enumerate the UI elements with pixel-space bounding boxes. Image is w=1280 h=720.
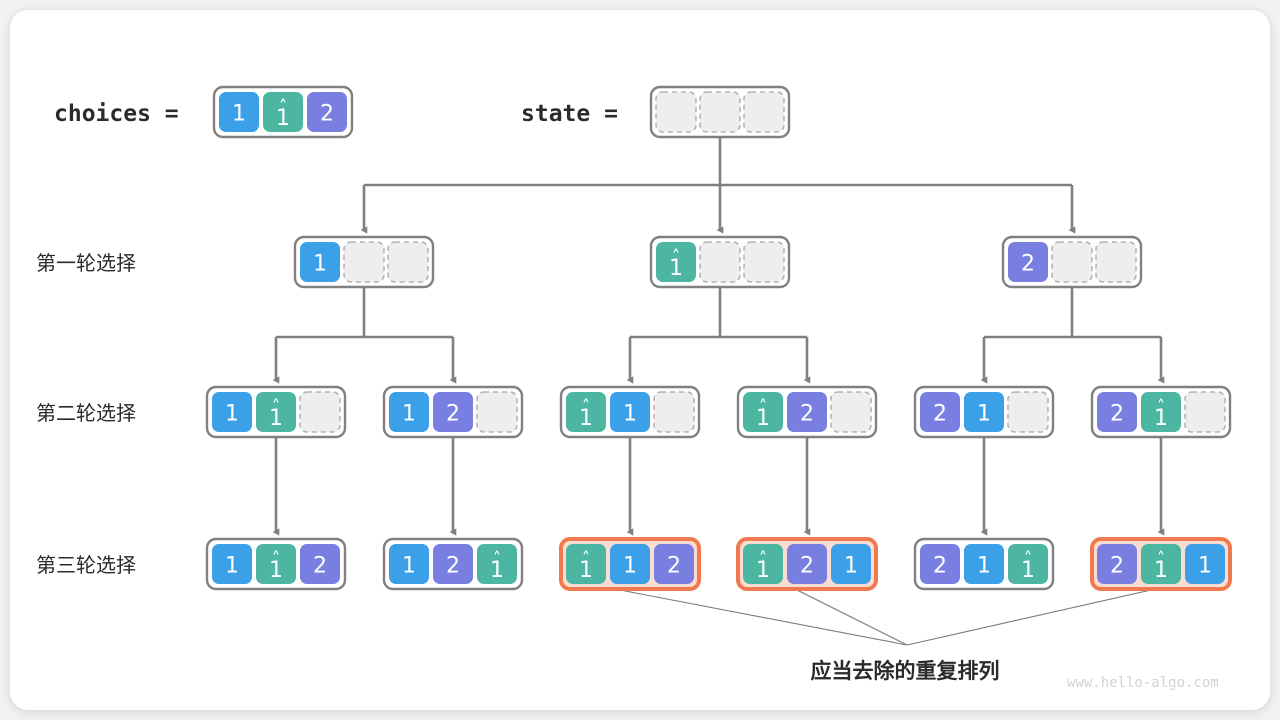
tree-node-r3-1[interactable]: 1˄12 [207, 539, 345, 589]
state-cell-empty [344, 242, 384, 282]
cell-value: 2 [800, 554, 814, 579]
state-cell-empty [1052, 242, 1092, 282]
cell-value: 2 [446, 402, 460, 427]
state-cell-empty [1008, 392, 1048, 432]
cell-value: 2 [313, 554, 327, 579]
cell-value: 2 [320, 102, 334, 127]
state-cell-empty [700, 92, 740, 132]
cell-value: 1 [269, 406, 283, 431]
state-cell-empty [477, 392, 517, 432]
cell-value: 1 [225, 402, 239, 427]
cell-value: 1 [756, 558, 770, 583]
choices-array[interactable]: 1˄12 [214, 87, 352, 137]
cell-value: 1 [1198, 554, 1212, 579]
cell-value: 2 [1110, 402, 1124, 427]
state-label: state = [521, 101, 618, 127]
cell-value: 1 [402, 402, 416, 427]
state-cell-empty [1096, 242, 1136, 282]
state-cell-empty [831, 392, 871, 432]
cell-value: 1 [579, 406, 593, 431]
callout-line [907, 590, 1151, 645]
cell-value: 2 [667, 554, 681, 579]
state-cell-empty [300, 392, 340, 432]
state-cell-empty [700, 242, 740, 282]
state-cell-empty [1185, 392, 1225, 432]
state-cell-empty [654, 392, 694, 432]
cell-value: 1 [490, 558, 504, 583]
cell-value: 1 [1154, 558, 1168, 583]
cell-value: 2 [933, 554, 947, 579]
cell-value: 2 [933, 402, 947, 427]
cell-value: 1 [313, 252, 327, 277]
cell-value: 2 [446, 554, 460, 579]
tree-node-r3-5[interactable]: 21˄1 [915, 539, 1053, 589]
cell-value: 1 [623, 554, 637, 579]
cell-value: 2 [800, 402, 814, 427]
row-label-round-1: 第一轮选择 [36, 251, 136, 275]
permutation-tree-svg: 1˄121˄121˄112˄11˄12212˄11˄1212˄1˄112˄121… [0, 0, 1280, 720]
cell-value: 1 [1154, 406, 1168, 431]
tree-node-r3-3[interactable]: ˄112 [561, 539, 699, 589]
cell-value: 1 [1021, 558, 1035, 583]
tree-node-r2-6[interactable]: 2˄1 [1092, 387, 1230, 437]
state-cell-empty [744, 92, 784, 132]
cell-value: 1 [756, 406, 770, 431]
cell-value: 1 [276, 106, 290, 131]
cell-value: 1 [225, 554, 239, 579]
row-label-round-3: 第三轮选择 [36, 553, 136, 577]
tree-node-r3-4[interactable]: ˄121 [738, 539, 876, 589]
cell-value: 1 [669, 256, 683, 281]
state-cell-empty [388, 242, 428, 282]
state-cell-empty [744, 242, 784, 282]
tree-node-r2-1[interactable]: 1˄1 [207, 387, 345, 437]
callout-line [797, 590, 907, 645]
tree-node-r1-1[interactable]: 1 [295, 237, 433, 287]
tree-node-r3-6[interactable]: 2˄11 [1092, 539, 1230, 589]
cell-value: 1 [269, 558, 283, 583]
tree-node-r2-5[interactable]: 21 [915, 387, 1053, 437]
tree-node-r2-4[interactable]: ˄12 [738, 387, 876, 437]
cell-value: 2 [1021, 252, 1035, 277]
choices-label: choices = [54, 101, 179, 127]
tree-node-r1-2[interactable]: ˄1 [651, 237, 789, 287]
row-label-round-2: 第二轮选择 [36, 401, 136, 425]
callout-line [620, 590, 907, 645]
tree-node-r3-2[interactable]: 12˄1 [384, 539, 522, 589]
cell-value: 1 [402, 554, 416, 579]
diagram-canvas: 1˄121˄121˄112˄11˄12212˄11˄1212˄1˄112˄121… [0, 0, 1280, 720]
cell-value: 1 [977, 402, 991, 427]
cell-value: 1 [623, 402, 637, 427]
cell-value: 1 [844, 554, 858, 579]
watermark-label: www.hello-algo.com [1067, 675, 1219, 691]
tree-node-r2-3[interactable]: ˄11 [561, 387, 699, 437]
state-cell-empty [656, 92, 696, 132]
cell-value: 2 [1110, 554, 1124, 579]
duplicate-permutations-caption: 应当去除的重复排列 [811, 659, 1000, 683]
tree-node-r1-3[interactable]: 2 [1003, 237, 1141, 287]
tree-node-r2-2[interactable]: 12 [384, 387, 522, 437]
cell-value: 1 [232, 102, 246, 127]
state-array[interactable] [651, 87, 789, 137]
cell-value: 1 [579, 558, 593, 583]
cell-value: 1 [977, 554, 991, 579]
